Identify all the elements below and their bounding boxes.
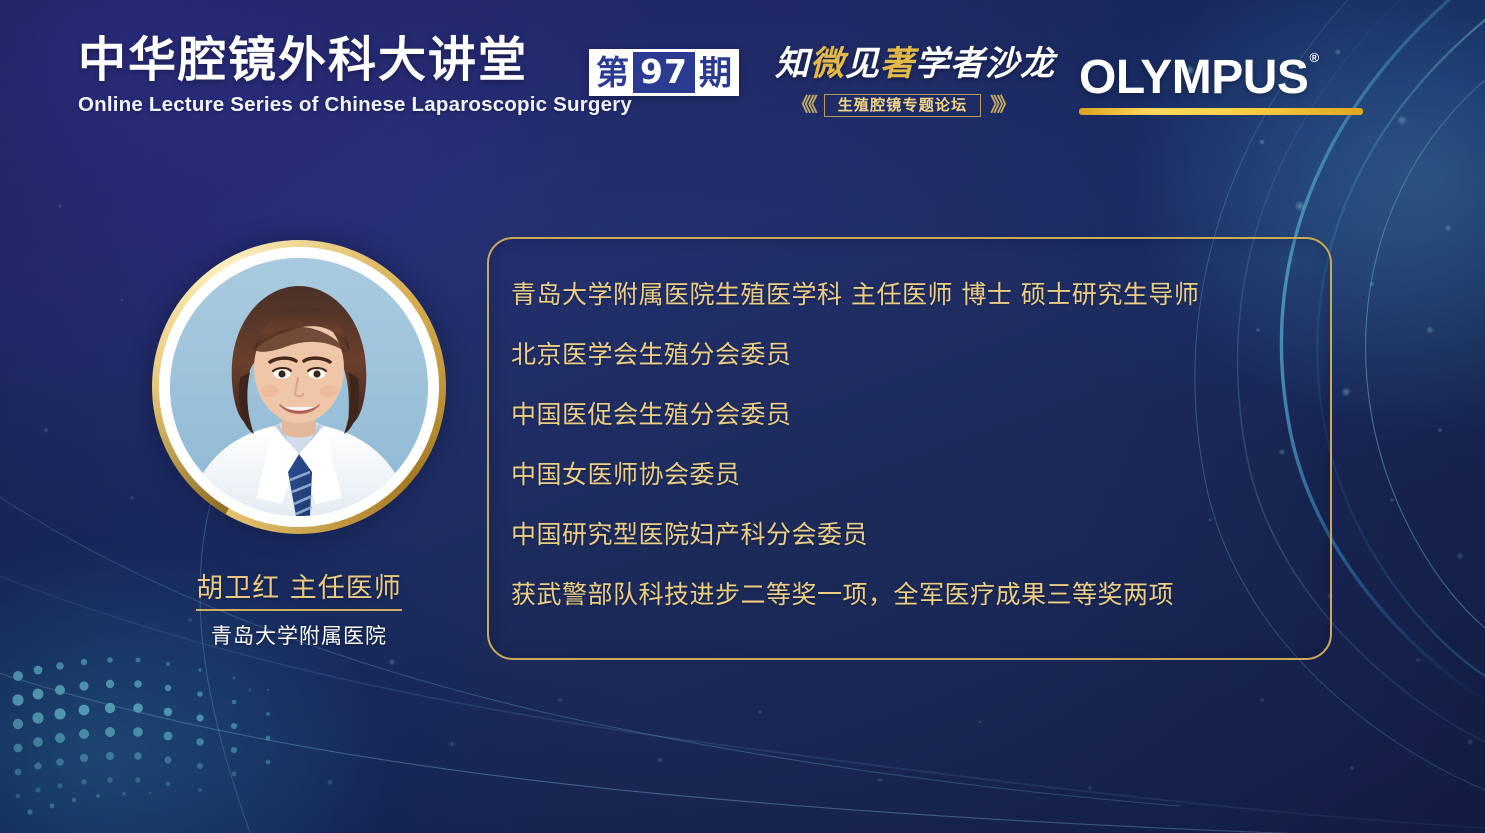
- speaker-organization: 青岛大学附属医院: [152, 620, 446, 650]
- series-title-cn: 中华腔镜外科大讲堂: [78, 36, 578, 84]
- salon-calligraphy-title: 知微见著学者沙龙: [775, 38, 1030, 90]
- credential-line: 北京医学会生殖分会委员: [511, 325, 1312, 385]
- salon-char-3: 见: [845, 44, 880, 84]
- speaker-info: 胡卫红 主任医师 青岛大学附属医院: [152, 566, 446, 650]
- issue-number-badge: 第 97 期: [589, 49, 739, 96]
- salon-subtitle: 生殖腔镜专题论坛: [824, 94, 982, 117]
- series-branding: 中华腔镜外科大讲堂 Online Lecture Series of Chine…: [78, 36, 578, 117]
- series-title-en: Online Lecture Series of Chinese Laparos…: [78, 93, 578, 117]
- credential-line: 获武警部队科技进步二等奖一项，全军医疗成果三等奖两项: [511, 565, 1312, 625]
- salon-subtitle-row: 《《 生殖腔镜专题论坛 》》: [775, 93, 1030, 117]
- speaker-name: 胡卫红 主任医师: [196, 566, 402, 611]
- salon-char-rest: 学者沙龙: [915, 44, 1055, 84]
- sponsor-underline-bar: [1079, 108, 1363, 115]
- credential-line: 中国女医师协会委员: [511, 445, 1312, 505]
- salon-char-1: 知: [775, 44, 810, 84]
- sponsor-wordmark: OLYMPUS®: [1079, 46, 1318, 104]
- sponsor-logo: OLYMPUS®: [1079, 46, 1369, 115]
- issue-prefix-label: 第: [594, 54, 631, 92]
- presentation-slide: 中华腔镜外科大讲堂 Online Lecture Series of Chine…: [0, 0, 1485, 833]
- speaker-photo: [170, 258, 428, 516]
- speaker-name-wrap: 胡卫红 主任医师: [152, 566, 446, 611]
- salon-char-2: 微: [810, 44, 845, 84]
- credential-line: 中国医促会生殖分会委员: [511, 385, 1312, 445]
- credentials-panel: 青岛大学附属医院生殖医学科 主任医师 博士 硕士研究生导师 北京医学会生殖分会委…: [487, 237, 1332, 660]
- issue-suffix-label: 期: [697, 54, 734, 92]
- chevron-left-icon: 《《: [792, 96, 815, 115]
- slide-header: 中华腔镜外科大讲堂 Online Lecture Series of Chine…: [0, 0, 1485, 150]
- credential-line: 中国研究型医院妇产科分会委员: [511, 505, 1312, 565]
- sponsor-name-text: OLYMPUS: [1079, 51, 1308, 104]
- salon-logo: 知微见著学者沙龙 《《 生殖腔镜专题论坛 》》: [775, 38, 1030, 117]
- salon-char-4: 著: [880, 44, 915, 84]
- speaker-avatar: [152, 240, 446, 534]
- registered-trademark-icon: ®: [1309, 50, 1318, 65]
- credentials-list: 青岛大学附属医院生殖医学科 主任医师 博士 硕士研究生导师 北京医学会生殖分会委…: [511, 265, 1312, 625]
- chevron-right-icon: 》》: [990, 96, 1013, 115]
- credential-line: 青岛大学附属医院生殖医学科 主任医师 博士 硕士研究生导师: [511, 265, 1312, 325]
- issue-number-value: 97: [633, 52, 695, 93]
